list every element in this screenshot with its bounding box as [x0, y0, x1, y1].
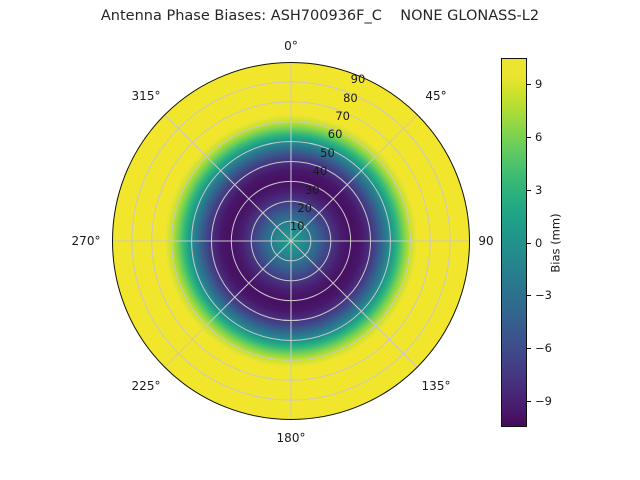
- colorbar-tick-label-3: 0: [535, 236, 542, 250]
- theta-tick-label-315: 315°: [132, 89, 161, 103]
- theta-tick-label-180: 180°: [277, 431, 306, 445]
- theta-tick-label-135: 135°: [422, 379, 451, 393]
- colorbar-tick-mark-2: [527, 190, 531, 191]
- colorbar-tick-mark-0: [527, 84, 531, 85]
- colorbar: 9630−3−6−9: [501, 58, 527, 427]
- r-tick-label-50: 50: [320, 146, 335, 160]
- colorbar-tick-mark-3: [527, 243, 531, 244]
- colorbar-tick-mark-6: [527, 401, 531, 402]
- colorbar-tick-label-0: 9: [535, 77, 542, 91]
- r-tick-label-30: 30: [305, 183, 320, 197]
- colorbar-tick-mark-5: [527, 348, 531, 349]
- chart-title: Antenna Phase Biases: ASH700936F_C NONE …: [0, 8, 640, 24]
- r-tick-label-80: 80: [343, 91, 358, 105]
- polar-data-disc: [112, 62, 470, 420]
- colorbar-tick-mark-1: [527, 137, 531, 138]
- r-tick-label-40: 40: [313, 164, 328, 178]
- r-tick-label-90: 90: [351, 72, 366, 86]
- colorbar-gradient: [501, 58, 527, 427]
- theta-tick-label-45: 45°: [425, 89, 446, 103]
- colorbar-label: Bias (mm): [549, 213, 563, 272]
- r-tick-label-70: 70: [335, 109, 350, 123]
- colorbar-tick-mark-4: [527, 295, 531, 296]
- theta-tick-label-225: 225°: [132, 379, 161, 393]
- theta-tick-label-270: 270°: [72, 234, 101, 248]
- r-tick-label-20: 20: [297, 201, 312, 215]
- polar-axes: 102030405060708090: [112, 62, 470, 420]
- figure-canvas: Antenna Phase Biases: ASH700936F_C NONE …: [0, 0, 640, 480]
- r-tick-label-60: 60: [328, 127, 343, 141]
- colorbar-label-wrap: Bias (mm): [546, 58, 566, 427]
- colorbar-tick-label-1: 6: [535, 130, 542, 144]
- r-tick-label-10: 10: [290, 219, 305, 233]
- bias-heatmap-field: [112, 62, 470, 420]
- colorbar-tick-label-2: 3: [535, 183, 542, 197]
- theta-tick-label-90: 90: [478, 234, 493, 248]
- theta-tick-label-0: 0°: [284, 39, 298, 53]
